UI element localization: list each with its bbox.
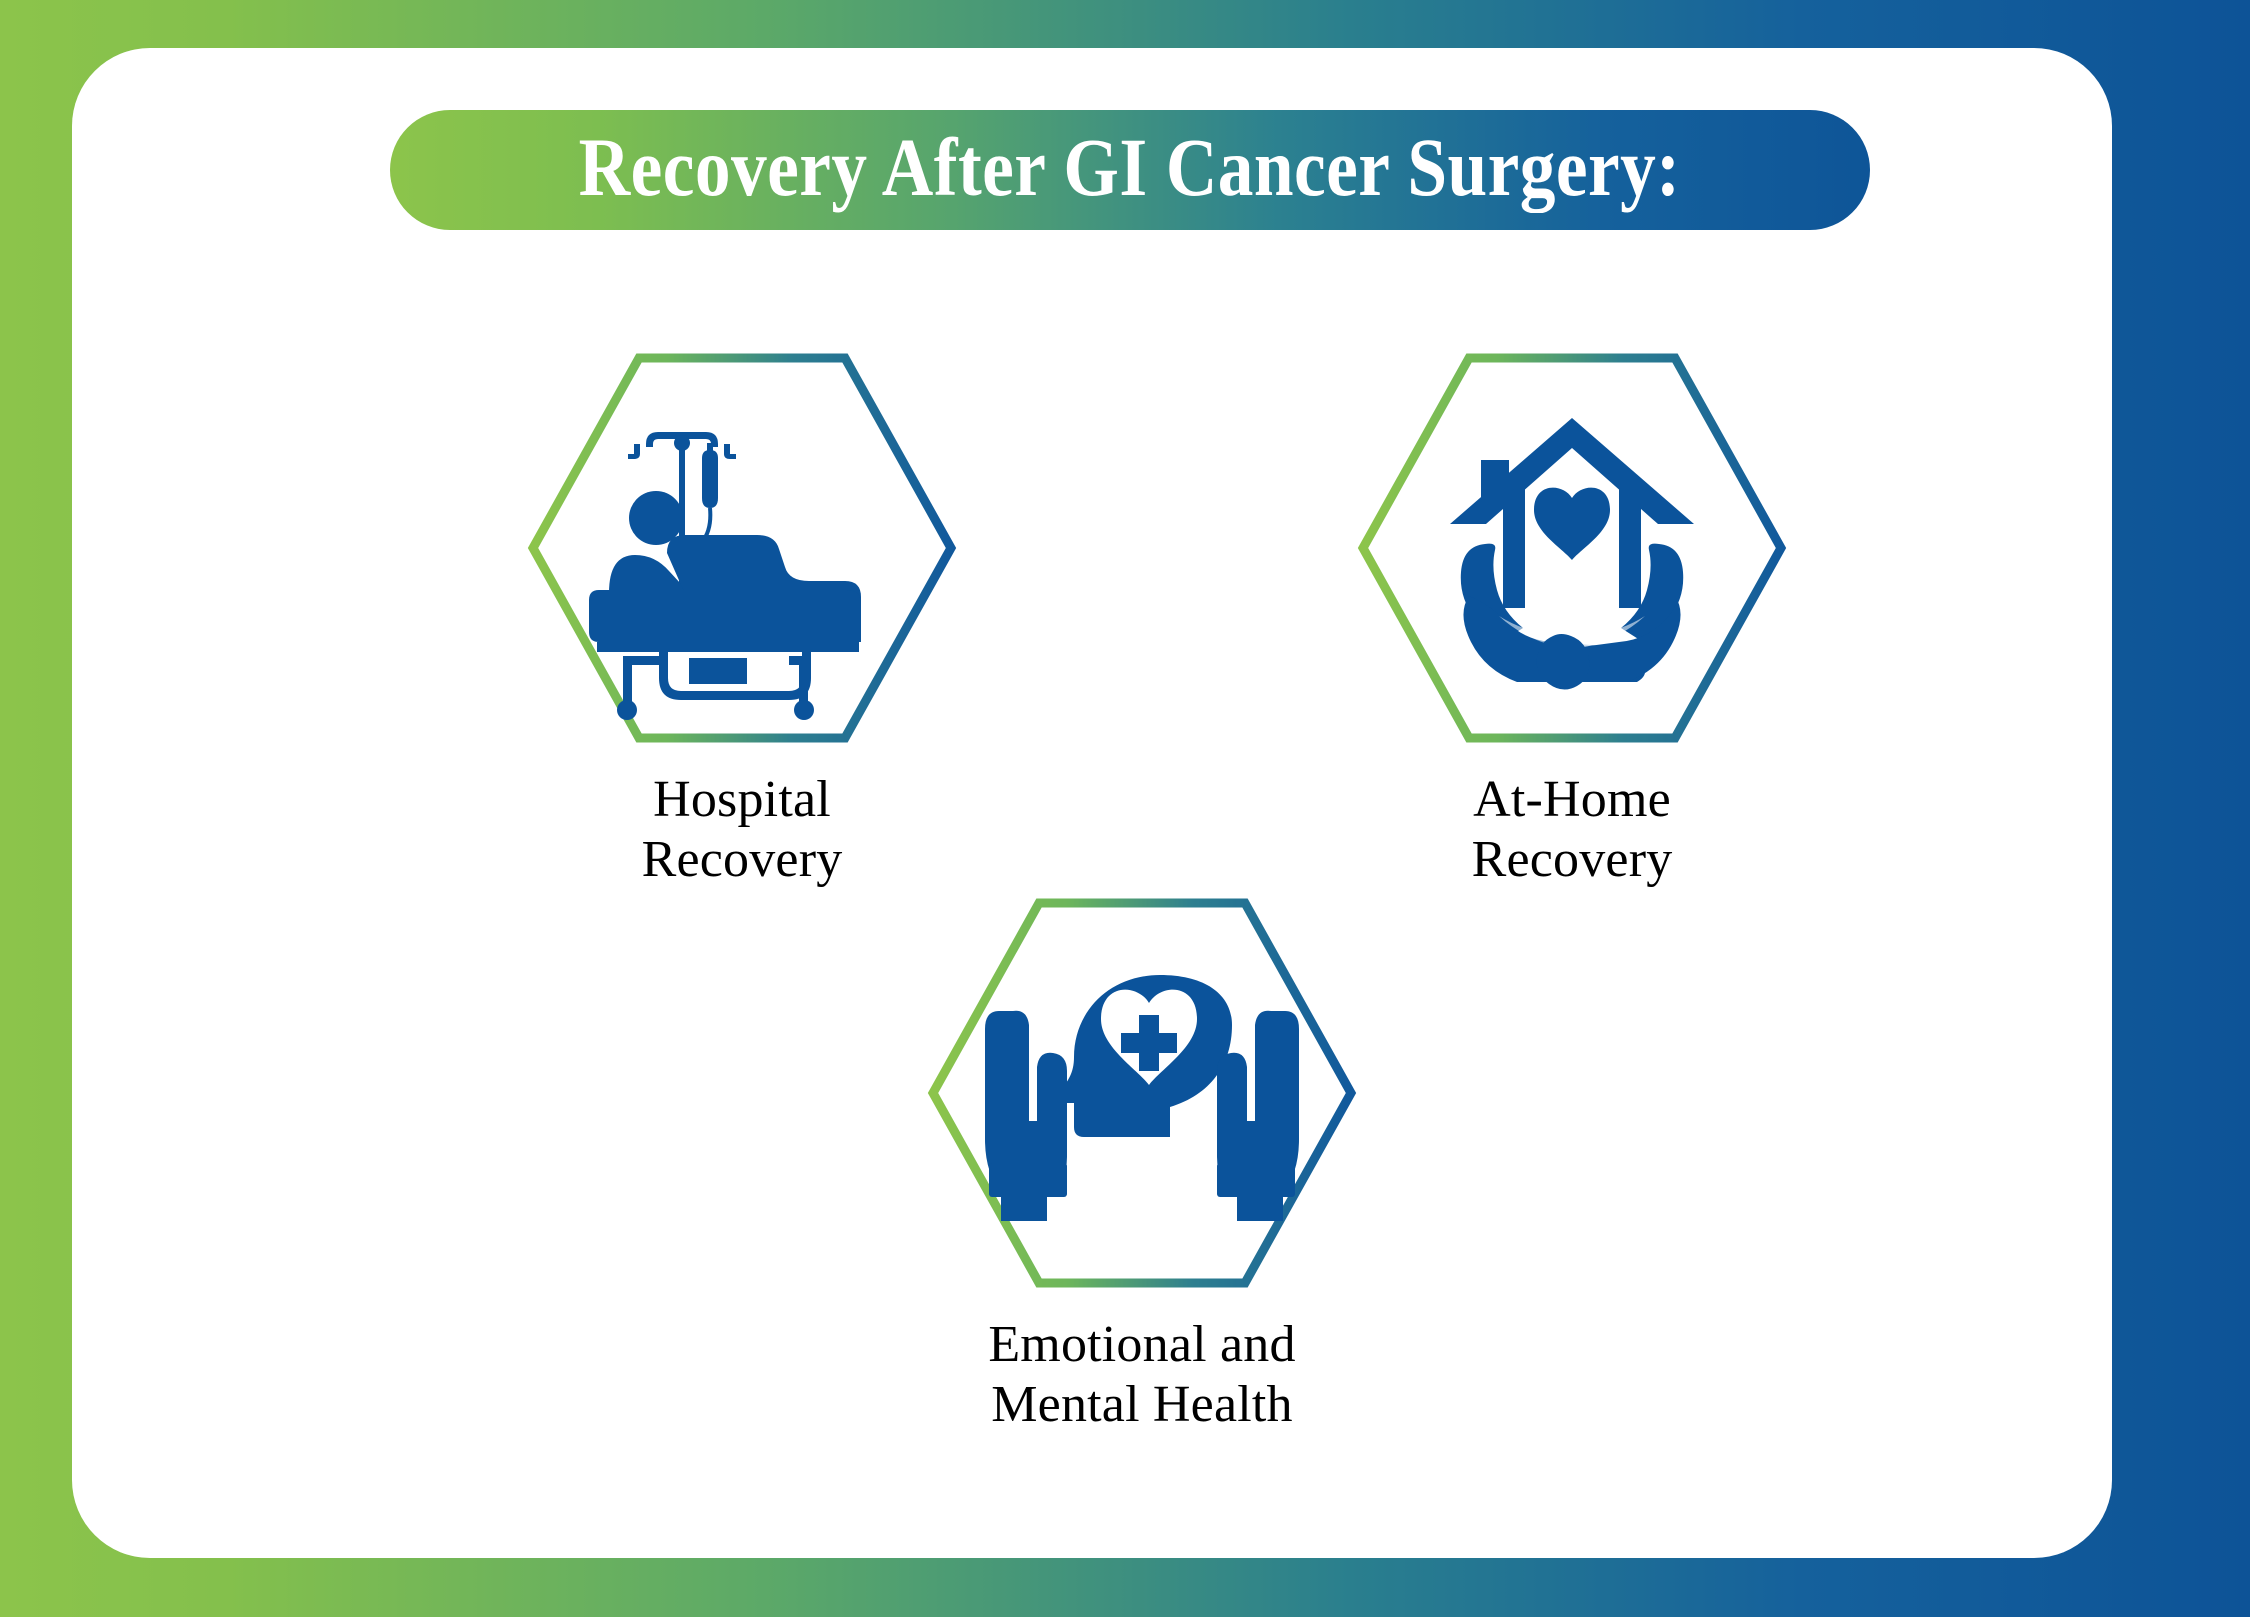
label-hospital-recovery: Hospital Recovery: [642, 770, 843, 891]
hexagon-frame-at-home: [1357, 348, 1787, 748]
title-banner: Recovery After GI Cancer Surgery:: [390, 110, 1870, 230]
label-emotional-mental-health: Emotional and Mental Health: [988, 1315, 1295, 1436]
content-card: Recovery After GI Cancer Surgery:: [72, 48, 2112, 1558]
page-title: Recovery After GI Cancer Surgery:: [579, 126, 1681, 215]
card-hospital-recovery[interactable]: Hospital Recovery: [527, 348, 957, 891]
infographic-canvas: Recovery After GI Cancer Surgery:: [0, 0, 2250, 1617]
hexagon-frame-mental-health: [927, 893, 1357, 1293]
hexagon-frame-hospital: [527, 348, 957, 748]
card-at-home-recovery[interactable]: At-Home Recovery: [1357, 348, 1787, 891]
label-at-home-recovery: At-Home Recovery: [1472, 770, 1673, 891]
card-emotional-mental-health[interactable]: Emotional and Mental Health: [927, 893, 1357, 1436]
